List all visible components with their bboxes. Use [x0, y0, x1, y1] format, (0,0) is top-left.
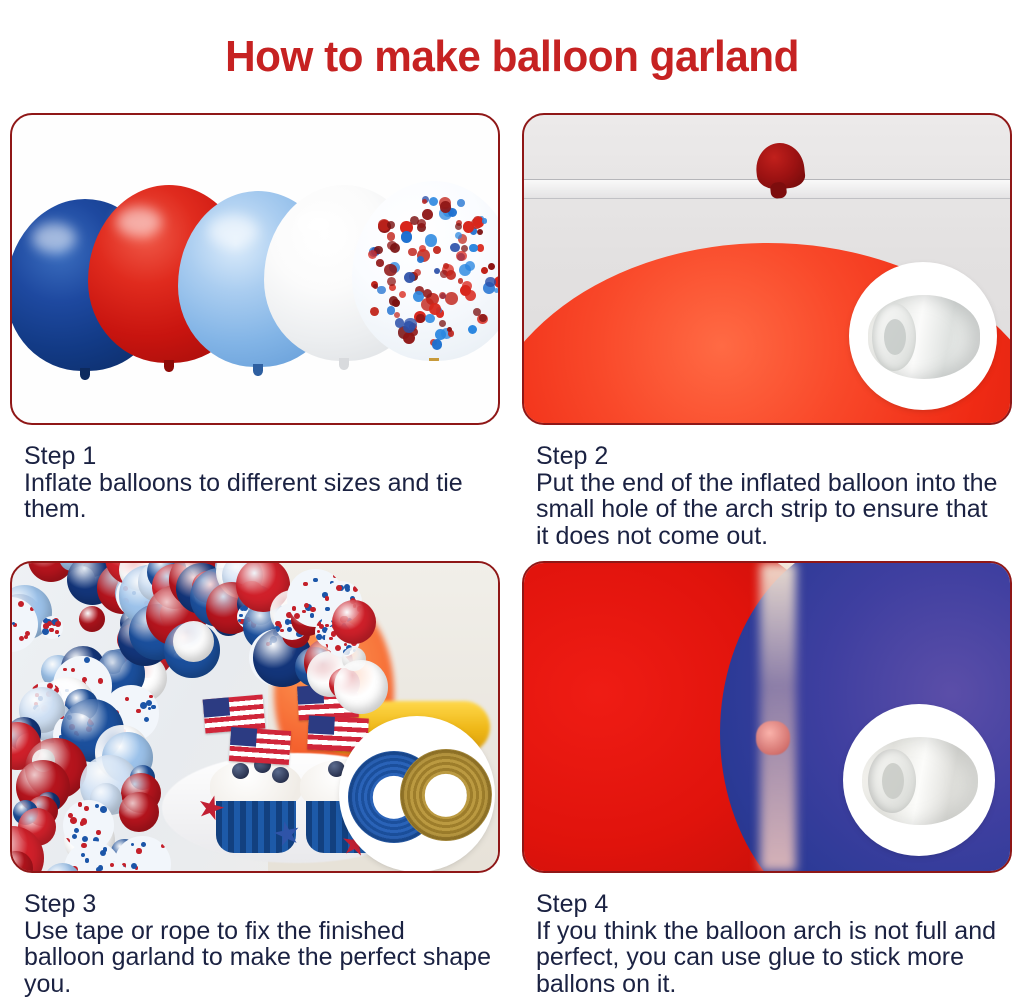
balloon-highlight	[294, 209, 340, 239]
confetti-dot	[49, 628, 53, 632]
confetti-dot	[325, 607, 329, 611]
confetti-dot	[239, 614, 243, 618]
step-3-caption: Step 3 Use tape or rope to fix the finis…	[10, 873, 500, 997]
confetti-dot	[329, 637, 333, 641]
confetti-dot	[302, 610, 305, 613]
balloon-knot	[339, 358, 349, 370]
confetti-dot	[18, 601, 24, 607]
confetti-dot	[416, 314, 424, 322]
confetti-dot	[274, 626, 280, 632]
confetti-dot	[55, 630, 59, 634]
confetti-dot	[151, 705, 156, 710]
confetti-dot	[392, 299, 400, 307]
glue-roll-icon	[862, 737, 978, 825]
confetti-dot	[370, 307, 379, 316]
steps-grid: Step 1 Inflate balloons to different siz…	[0, 113, 1024, 997]
step-1-photo	[10, 113, 500, 425]
page-title: How to make balloon garland	[20, 29, 1003, 83]
confetti-dot	[373, 284, 378, 289]
confetti-dot	[43, 618, 47, 622]
confetti-dot	[285, 619, 290, 624]
confetti-dot	[368, 250, 377, 259]
confetti-dot	[12, 622, 15, 625]
confetti-dot	[423, 289, 432, 298]
confetti-dot	[71, 668, 75, 672]
confetti-dot	[316, 621, 321, 626]
confetti-dot	[408, 248, 417, 257]
confetti-dot	[482, 218, 488, 224]
confetti-dot	[387, 232, 396, 241]
confetti-dot	[280, 629, 283, 632]
balloon-highlight	[32, 223, 76, 253]
step-2-caption: Step 2 Put the end of the inflated ballo…	[522, 425, 1012, 549]
confetti-dot	[78, 802, 82, 806]
balloon-knot	[164, 360, 174, 372]
step-2-label: Step 2	[536, 443, 1004, 470]
confetti-dot	[85, 858, 90, 863]
garland-balloon	[41, 616, 63, 638]
step-4-photo	[522, 561, 1012, 873]
confetti-dot	[98, 678, 104, 684]
confetti-dot	[10, 599, 12, 605]
step-2-text: Put the end of the inflated balloon into…	[536, 470, 1004, 550]
confetti-dot	[325, 644, 329, 648]
confetti-dot	[325, 596, 330, 601]
confetti-dot	[63, 838, 69, 844]
confetti-dot	[25, 631, 30, 636]
confetti-dot	[55, 621, 61, 627]
confetti-dot	[353, 586, 359, 592]
confetti-dot	[98, 865, 103, 870]
confetti-dot	[144, 717, 150, 723]
confetti-dot	[432, 339, 443, 350]
step-1-caption: Step 1 Inflate balloons to different siz…	[10, 425, 500, 523]
garland-balloon	[119, 792, 160, 833]
confetti-dot	[161, 844, 165, 848]
confetti-dot	[463, 221, 474, 232]
step-4-caption: Step 4 If you think the balloon arch is …	[522, 873, 1012, 997]
confetti-dot	[439, 292, 446, 299]
confetti-dot	[58, 635, 62, 639]
confetti-dot	[81, 853, 85, 857]
confetti-dot	[292, 606, 297, 611]
confetti-dot	[333, 573, 337, 577]
confetti-dot	[100, 806, 107, 813]
balloon-gap-background	[760, 563, 796, 871]
confetti-dot	[125, 697, 129, 701]
confetti-dot	[468, 325, 477, 334]
confetti-dot	[354, 582, 359, 587]
confetti-dot	[131, 843, 134, 846]
confetti-dot	[317, 630, 320, 633]
confetti-dot	[425, 234, 437, 246]
confetti-dot	[399, 291, 406, 298]
confetti-dot	[394, 312, 400, 318]
confetti-dot	[95, 804, 99, 808]
confetti-dot	[477, 229, 483, 235]
confetti-dot	[84, 806, 89, 811]
confetti-dot	[81, 818, 88, 825]
confetti-dot	[440, 201, 452, 213]
step-3-text: Use tape or rope to fix the finished bal…	[24, 918, 492, 998]
us-flag-pick	[229, 727, 291, 765]
confetti-dot	[481, 267, 488, 274]
confetti-dot	[149, 695, 153, 699]
confetti-dot	[473, 308, 481, 316]
step-card-3: Step 3 Use tape or rope to fix the finis…	[10, 561, 500, 997]
confetti-dot	[27, 646, 32, 651]
confetti-dot	[443, 263, 449, 269]
garland-balloon	[10, 597, 38, 652]
confetti-dot	[434, 268, 440, 274]
balloon-knot	[80, 368, 90, 380]
confetti-dot	[465, 290, 476, 301]
step-3-photo	[10, 561, 500, 873]
step-card-1: Step 1 Inflate balloons to different siz…	[10, 113, 500, 549]
confetti-dot	[401, 231, 412, 242]
balloon-highlight	[116, 207, 162, 237]
step-card-2: Step 2 Put the end of the inflated ballo…	[522, 113, 1012, 549]
confetti-dot	[103, 847, 108, 852]
confetti-dot	[376, 259, 383, 266]
confetti-dot	[110, 863, 114, 867]
ribbon-rolls-inset	[342, 719, 492, 869]
glue-dot	[756, 721, 790, 755]
confetti-dot	[422, 199, 427, 204]
confetti-dot	[115, 837, 121, 843]
tape-roll-icon	[868, 295, 980, 379]
confetti-dot	[96, 830, 101, 835]
confetti-dot	[469, 244, 477, 252]
confetti-dot	[439, 320, 446, 327]
confetti-dot	[422, 209, 433, 220]
confetti-dot	[303, 582, 308, 587]
confetti-dot	[313, 578, 317, 582]
confetti-dot	[455, 223, 463, 231]
confetti-dot	[310, 607, 315, 612]
confetti-dot	[335, 645, 342, 652]
confetti-dot	[457, 199, 465, 207]
step-1-text: Inflate balloons to different sizes and …	[24, 470, 492, 523]
garland-balloon	[334, 660, 388, 714]
confetti-dot	[477, 244, 485, 252]
confetti-dot	[304, 603, 309, 608]
confetti-dot	[84, 657, 91, 664]
confetti-dot	[70, 817, 77, 824]
confetti-dot	[377, 286, 385, 294]
step-4-text: If you think the balloon arch is not ful…	[536, 918, 1004, 998]
balloon-highlight	[208, 215, 258, 247]
confetti-dot	[390, 243, 400, 253]
confetti-dot	[294, 613, 300, 619]
confetti-dot	[387, 221, 395, 229]
confetti-dot	[485, 277, 495, 287]
step-1-label: Step 1	[24, 443, 492, 470]
garland-balloon	[173, 621, 214, 662]
balloon-knot	[253, 364, 263, 376]
confetti-dot	[287, 627, 292, 632]
confetti-dot	[72, 834, 77, 839]
confetti-dot	[107, 802, 112, 807]
confetti-dot	[429, 197, 438, 206]
confetti-dot	[433, 246, 441, 254]
step-2-photo	[522, 113, 1012, 425]
confetti-dot	[316, 634, 322, 640]
confetti-dot	[425, 314, 434, 323]
confetti-dot	[450, 243, 459, 252]
confetti-dot	[456, 251, 467, 262]
confetti-dot	[488, 263, 495, 270]
confetti-dot	[141, 842, 146, 847]
confetti-dot	[148, 707, 151, 710]
step-4-label: Step 4	[536, 891, 1004, 918]
confetti-dot	[81, 843, 86, 848]
confetti-dot	[310, 613, 315, 618]
confetti-dot	[445, 292, 458, 305]
confetti-dot	[417, 256, 424, 263]
clear-tape-roll-inset	[852, 265, 994, 407]
confetti-dot	[446, 270, 456, 280]
balloon-knot-through-hole	[754, 141, 807, 192]
confetti-dot	[384, 264, 397, 277]
step-3-label: Step 3	[24, 891, 492, 918]
confetti-dot	[465, 261, 475, 271]
confetti-dot	[345, 587, 350, 592]
confetti-dot	[494, 288, 499, 293]
confetti-dot	[123, 864, 126, 867]
gold-ribbon-roll	[400, 749, 492, 841]
confetti-dot	[414, 269, 422, 277]
garland-balloon	[332, 600, 376, 644]
confetti-dot	[30, 607, 34, 611]
glue-dots-roll-inset	[846, 707, 992, 853]
confetti-dot	[146, 700, 152, 706]
confetti-dot	[43, 623, 49, 629]
confetti-dot	[136, 709, 140, 713]
confetti-dot	[435, 329, 446, 340]
step-card-4: Step 4 If you think the balloon arch is …	[522, 561, 1012, 997]
balloon-knot	[429, 358, 439, 361]
confetti-dot	[404, 272, 416, 284]
confetti-dot	[136, 848, 141, 853]
confetti-dot	[42, 628, 49, 635]
confetti-dot	[74, 828, 79, 833]
confetti-dot	[63, 668, 67, 672]
garland-balloon	[79, 606, 106, 633]
